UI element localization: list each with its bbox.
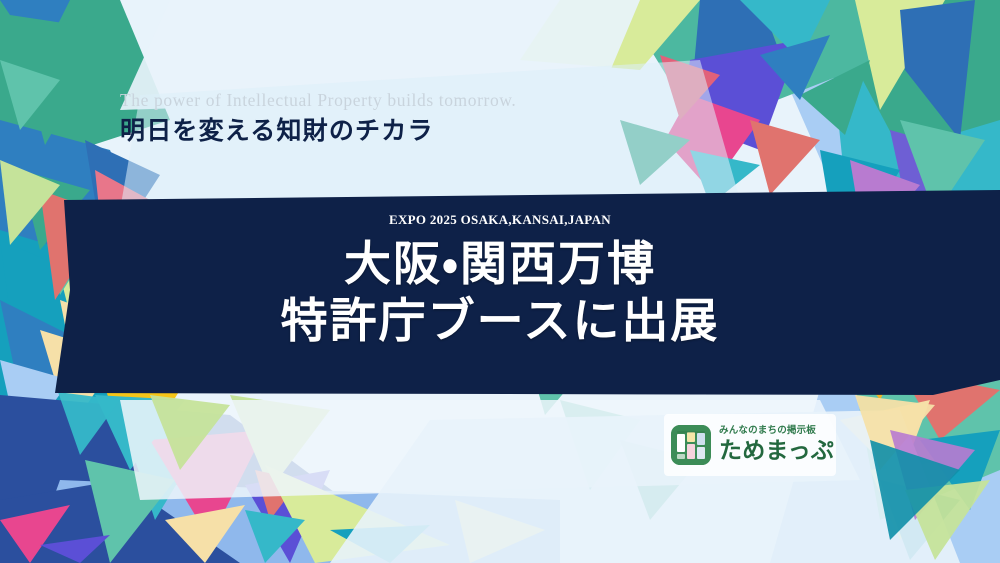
logo-name-label: ためまっぷ	[719, 439, 834, 464]
tagline-english: The power of Intellectual Property build…	[120, 90, 516, 112]
bulletin-board-icon	[671, 425, 711, 465]
tamemap-logo[interactable]: みんなのまちの掲示板 ためまっぷ	[664, 414, 836, 476]
navy-banner-shape	[0, 190, 1000, 405]
logo-sub-label: みんなのまちの掲示板	[719, 426, 834, 436]
expo-poster: The power of Intellectual Property build…	[0, 0, 1000, 563]
tagline-block: The power of Intellectual Property build…	[120, 90, 516, 147]
tagline-japanese: 明日を変える知財のチカラ	[120, 115, 516, 148]
logo-text-group: みんなのまちの掲示板 ためまっぷ	[719, 426, 834, 464]
